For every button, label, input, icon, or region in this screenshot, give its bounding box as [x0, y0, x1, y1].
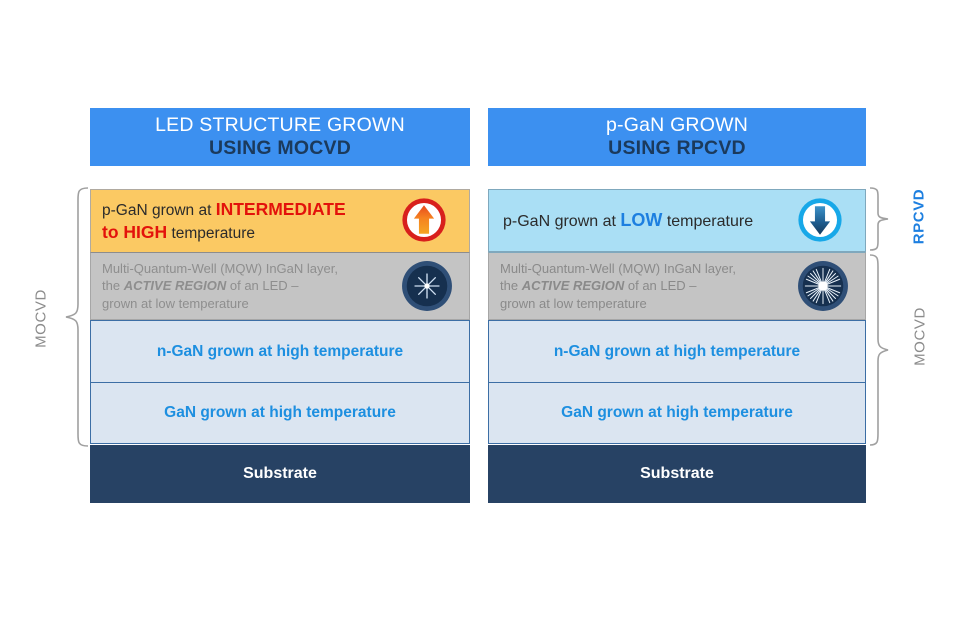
pgan-text-post: temperature — [167, 225, 255, 242]
mqw-line2-pre: the — [500, 278, 522, 293]
layer-substrate-label: Substrate — [243, 465, 317, 483]
layer-substrate-mocvd: Substrate — [90, 445, 470, 503]
pgan-rpcvd-pre: p-GaN grown at — [503, 213, 620, 230]
layer-substrate-rpcvd: Substrate — [488, 445, 866, 503]
layer-gan-mocvd: GaN grown at high temperature — [90, 382, 470, 444]
mqw-line2-post: of an LED – — [226, 278, 298, 293]
mqw-line3: grown at low temperature — [102, 296, 249, 311]
layer-mqw-label: Multi-Quantum-Well (MQW) InGaN layer, th… — [500, 260, 736, 312]
header-line1: p-GaN GROWN — [606, 114, 748, 137]
layer-pgan-rpcvd-label: p-GaN grown at LOW temperature — [503, 210, 753, 231]
pgan-text-pre: p-GaN grown at — [102, 202, 216, 219]
bracket-label-mocvd-left: MOCVD — [33, 274, 50, 364]
mqw-active-region: ACTIVE REGION — [124, 278, 227, 293]
bracket-mocvd-left — [62, 186, 90, 448]
layer-ngan-rpcvd: n-GaN grown at high temperature — [488, 320, 866, 382]
layer-gan-label: GaN grown at high temperature — [561, 404, 793, 422]
starburst-bright-icon — [797, 260, 849, 312]
mqw-line2-post: of an LED – — [624, 278, 696, 293]
arrow-up-icon — [401, 197, 447, 243]
header-line2: USING MOCVD — [209, 137, 351, 160]
header-pgan-rpcvd: p-GaN GROWN USING RPCVD — [488, 108, 866, 166]
bracket-label-mocvd-right: MOCVD — [912, 305, 929, 369]
mqw-line1: Multi-Quantum-Well (MQW) InGaN layer, — [500, 261, 736, 276]
mqw-line3: grown at low temperature — [500, 296, 647, 311]
layer-gan-rpcvd: GaN grown at high temperature — [488, 382, 866, 444]
bracket-label-rpcvd: RPCVD — [911, 188, 928, 246]
pgan-text-to-high: to HIGH — [102, 222, 167, 242]
layer-substrate-label: Substrate — [640, 465, 714, 483]
layer-ngan-label: n-GaN grown at high temperature — [554, 343, 800, 361]
header-led-structure-mocvd: LED STRUCTURE GROWN USING MOCVD — [90, 108, 470, 166]
arrow-down-icon — [797, 197, 843, 243]
layer-ngan-mocvd: n-GaN grown at high temperature — [90, 320, 470, 382]
pgan-rpcvd-low: LOW — [620, 210, 662, 230]
stack-mocvd: p-GaN grown at INTERMEDIATE to HIGH temp… — [90, 189, 470, 503]
mqw-line1: Multi-Quantum-Well (MQW) InGaN layer, — [102, 261, 338, 276]
mqw-active-region: ACTIVE REGION — [522, 278, 625, 293]
header-line2: USING RPCVD — [608, 137, 746, 160]
diagram-canvas: LED STRUCTURE GROWN USING MOCVD p-GaN GR… — [0, 0, 960, 640]
mqw-line2-pre: the — [102, 278, 124, 293]
bracket-mocvd-right — [868, 253, 892, 448]
bracket-rpcvd-right — [868, 186, 892, 252]
header-line1: LED STRUCTURE GROWN — [155, 114, 405, 137]
pgan-rpcvd-post: temperature — [662, 213, 753, 230]
layer-gan-label: GaN grown at high temperature — [164, 404, 396, 422]
layer-mqw-label: Multi-Quantum-Well (MQW) InGaN layer, th… — [102, 260, 338, 312]
layer-pgan-mocvd-label: p-GaN grown at INTERMEDIATE to HIGH temp… — [102, 198, 346, 244]
stack-rpcvd: p-GaN grown at LOW temperature Multi-Qua… — [488, 189, 866, 503]
layer-ngan-label: n-GaN grown at high temperature — [157, 343, 403, 361]
starburst-dim-icon — [401, 260, 453, 312]
pgan-text-intermediate: INTERMEDIATE — [216, 199, 346, 219]
